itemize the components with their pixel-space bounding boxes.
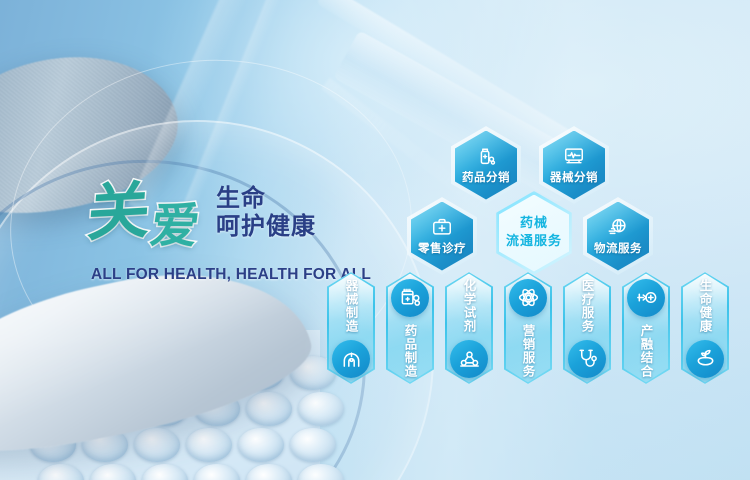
banner-stage: 关爱 生命 呵护健康 ALL FOR HEALTH, HEALTH FOR AL… bbox=[0, 0, 750, 480]
slogan-line-2: 呵护健康 bbox=[216, 212, 316, 240]
pill-label: 化学试剂 bbox=[463, 279, 476, 333]
hex-center-label-line-2: 流通服务 bbox=[506, 234, 562, 250]
microplate-well bbox=[246, 464, 292, 480]
pill-label: 营销服务 bbox=[522, 324, 535, 378]
tagline-english: ALL FOR HEALTH, HEALTH FOR ALL bbox=[91, 266, 371, 284]
microplate-well bbox=[290, 428, 336, 462]
microplate-well bbox=[238, 428, 284, 462]
microplate-well bbox=[186, 428, 232, 462]
pill-content: 产融结合 bbox=[622, 272, 670, 384]
hex-node-label: 零售诊疗 bbox=[418, 240, 466, 256]
slogan-lines: 生命 呵护健康 bbox=[216, 184, 316, 241]
hex-node-content: 零售诊疗 bbox=[418, 216, 466, 256]
pill-label: 器械制造 bbox=[345, 279, 358, 333]
sprout-leaf-icon bbox=[686, 340, 724, 378]
pill-content: 化学试剂 bbox=[445, 272, 493, 384]
hex-center-label-line-1: 药械 bbox=[520, 216, 548, 232]
slogan-calligraphy-char-2: 爱 bbox=[148, 202, 201, 251]
pill-content: 药品制造 bbox=[386, 272, 434, 384]
capability-pill-2[interactable]: 药品制造 bbox=[386, 272, 434, 384]
microplate-well bbox=[90, 464, 136, 480]
hex-center-content: 药械流通服务 bbox=[506, 216, 562, 251]
slogan-calligraphy: 关爱 bbox=[86, 177, 197, 244]
hex-node-label: 药品分销 bbox=[462, 169, 510, 185]
medical-kit-icon bbox=[431, 216, 453, 238]
capability-pill-4[interactable]: 营销服务 bbox=[504, 272, 552, 384]
capability-pill-1[interactable]: 器械制造 bbox=[327, 272, 375, 384]
microplate-well bbox=[194, 464, 240, 480]
pill-content: 器械制造 bbox=[327, 272, 375, 384]
pill-content: 生命健康 bbox=[681, 272, 729, 384]
hex-node-content: 药品分销 bbox=[462, 145, 510, 185]
hex-node-label: 物流服务 bbox=[594, 240, 642, 256]
capability-pill-5[interactable]: 医疗服务 bbox=[563, 272, 611, 384]
pill-label: 生命健康 bbox=[699, 279, 712, 333]
microplate-well bbox=[134, 428, 180, 462]
pill-content: 医疗服务 bbox=[563, 272, 611, 384]
pill-label: 医疗服务 bbox=[581, 279, 594, 333]
pill-box-icon bbox=[391, 279, 429, 317]
atom-icon bbox=[509, 279, 547, 317]
hex-node-content: 器械分销 bbox=[550, 145, 598, 185]
microplate-well bbox=[246, 392, 292, 426]
slogan-calligraphy-char-1: 关 bbox=[85, 174, 150, 250]
device-manufacturing-icon bbox=[332, 340, 370, 378]
pill-content: 营销服务 bbox=[504, 272, 552, 384]
pill-label: 产融结合 bbox=[640, 324, 653, 378]
hex-node-label: 器械分销 bbox=[550, 169, 598, 185]
capability-pill-6[interactable]: 产融结合 bbox=[622, 272, 670, 384]
hex-node-content: 物流服务 bbox=[594, 216, 642, 256]
microplate-well bbox=[298, 392, 344, 426]
finance-link-icon bbox=[627, 279, 665, 317]
molecule-flask-icon bbox=[450, 340, 488, 378]
microplate-well bbox=[38, 464, 84, 480]
medicine-bottle-icon bbox=[475, 145, 497, 167]
slogan-line-1: 生命 bbox=[216, 184, 316, 212]
microplate-well bbox=[142, 464, 188, 480]
pill-label: 药品制造 bbox=[404, 324, 417, 378]
globe-logistics-icon bbox=[607, 216, 629, 238]
stethoscope-icon bbox=[568, 340, 606, 378]
monitor-device-icon bbox=[563, 145, 585, 167]
capability-pill-3[interactable]: 化学试剂 bbox=[445, 272, 493, 384]
capability-pill-7[interactable]: 生命健康 bbox=[681, 272, 729, 384]
